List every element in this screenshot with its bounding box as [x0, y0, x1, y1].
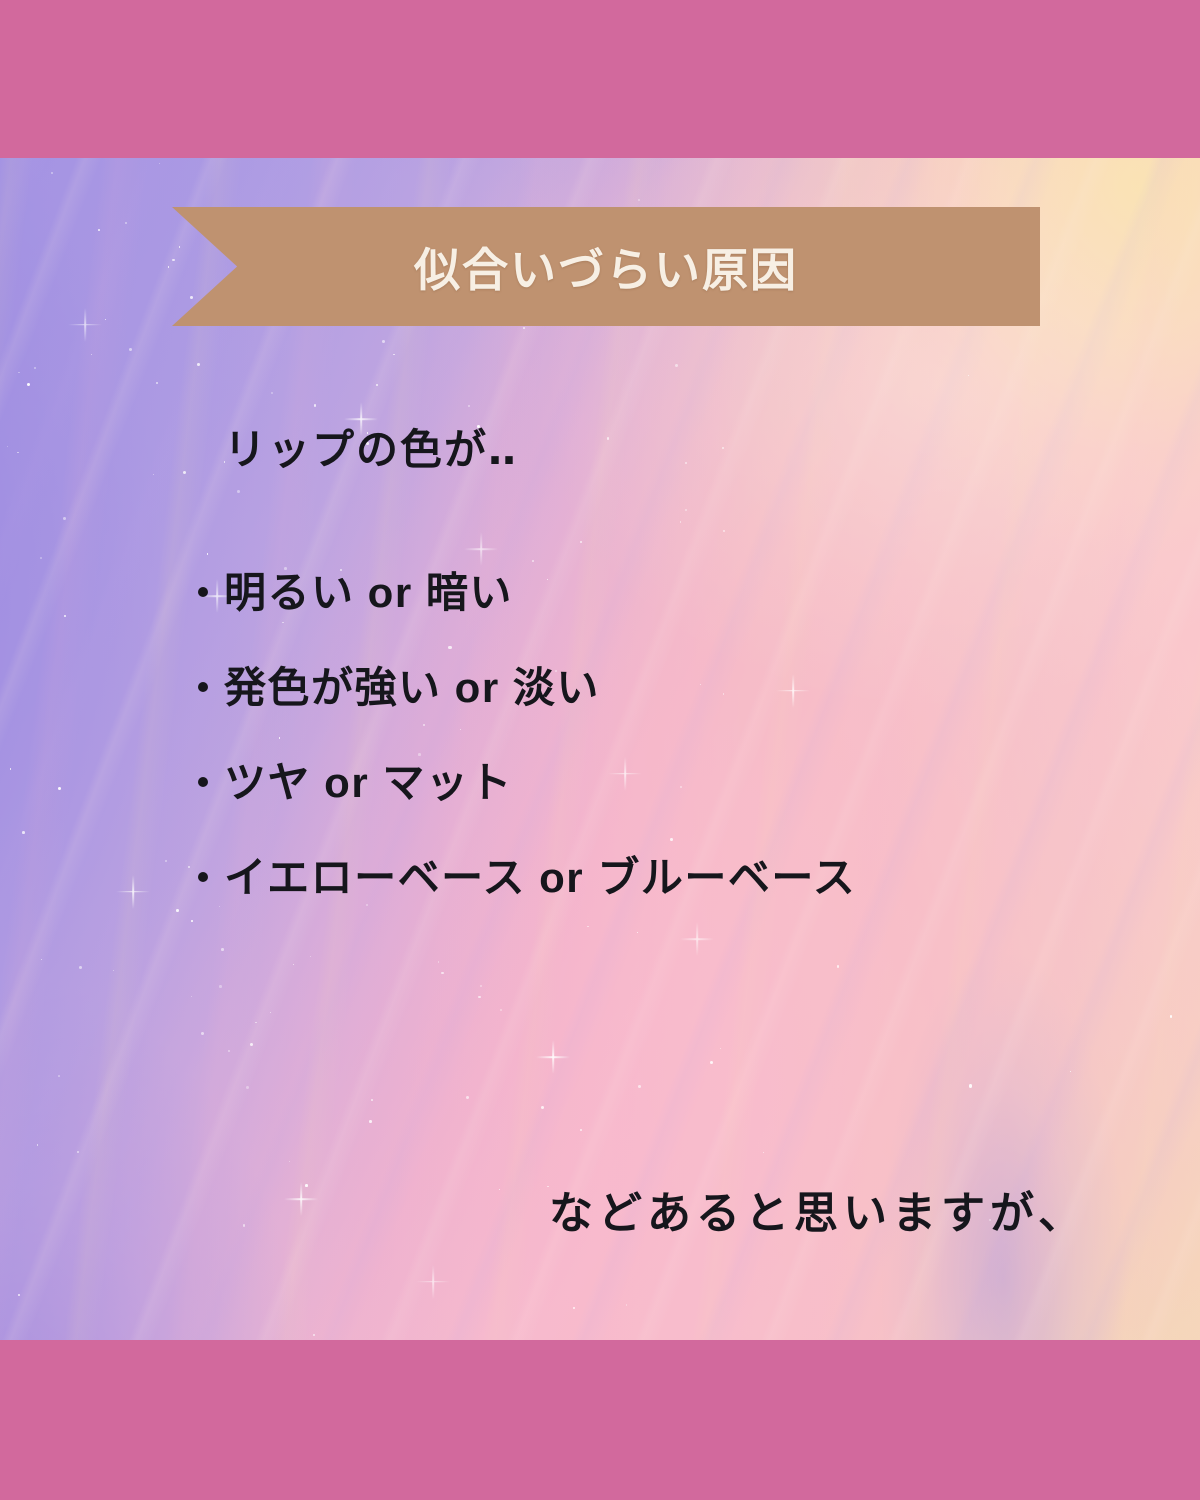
reason-bullet-label: 発色が強い or 淡い	[224, 664, 600, 711]
reason-bullet-item: イエローベース or ブルーベース	[198, 857, 856, 899]
bullet-dot-icon	[198, 587, 208, 597]
lead-text: リップの色が‥	[224, 416, 518, 477]
reason-bullet-item: 明るい or 暗い	[198, 572, 856, 614]
slide-content: リップの色が‥ 明るい or 暗い発色が強い or 淡いツヤ or マットイエロ…	[0, 0, 1200, 1500]
bullet-dot-icon	[198, 777, 208, 787]
reason-bullet-list: 明るい or 暗い発色が強い or 淡いツヤ or マットイエローベース or …	[198, 572, 856, 899]
reason-bullet-item: 発色が強い or 淡い	[198, 667, 856, 709]
frame-band-top	[0, 0, 1200, 158]
reason-bullet-label: 明るい or 暗い	[224, 569, 513, 616]
reason-bullet-label: ツヤ or マット	[224, 759, 513, 806]
bullet-dot-icon	[198, 872, 208, 882]
slide-root: 似合いづらい原因 リップの色が‥ 明るい or 暗い発色が強い or 淡いツヤ …	[0, 0, 1200, 1500]
reason-bullet-item: ツヤ or マット	[198, 762, 856, 804]
outro-text: などあると思いますが、	[549, 1177, 1087, 1241]
frame-band-bottom	[0, 1340, 1200, 1500]
reason-bullet-label: イエローベース or ブルーベース	[224, 854, 856, 901]
bullet-dot-icon	[198, 682, 208, 692]
